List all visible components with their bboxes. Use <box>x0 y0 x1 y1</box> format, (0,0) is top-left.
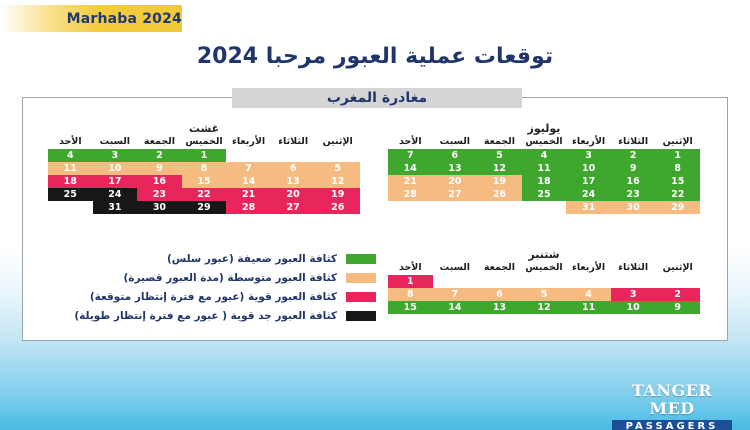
weekday-header: الأربعاء <box>226 136 271 149</box>
calendar-day-cell[interactable]: 6 <box>433 149 478 162</box>
calendar-day-cell[interactable]: 6 <box>271 162 316 175</box>
weekday-header: الثلاثاء <box>271 136 316 149</box>
calendar-month-name: شتنبر <box>388 248 700 261</box>
calendar-cell-empty <box>433 275 478 288</box>
calendar-day-cell[interactable]: 23 <box>137 188 182 201</box>
calendar-cell-empty <box>522 201 567 214</box>
calendar-cell-empty <box>477 201 522 214</box>
legend-swatch-green <box>346 254 376 264</box>
calendar-day-cell[interactable]: 18 <box>48 175 93 188</box>
calendar-day-cell[interactable]: 22 <box>655 188 700 201</box>
calendar-day-cell[interactable]: 27 <box>433 188 478 201</box>
calendar-day-cell[interactable]: 26 <box>315 201 360 214</box>
calendar-day-cell[interactable]: 28 <box>226 201 271 214</box>
weekday-header: الأحد <box>388 262 433 275</box>
calendar-يوليوز: يوليوزالإثنينالثلاثاءالأربعاءالخميسالجمع… <box>388 122 700 214</box>
calendar-day-cell[interactable]: 30 <box>611 201 656 214</box>
calendar-cell-empty <box>48 201 93 214</box>
calendar-day-cell[interactable]: 14 <box>226 175 271 188</box>
calendar-day-cell[interactable]: 12 <box>477 162 522 175</box>
logo-title: TANGER MED <box>612 382 732 418</box>
calendar-day-cell[interactable]: 2 <box>655 288 700 301</box>
calendar-cell-empty <box>226 149 271 162</box>
calendar-day-cell[interactable]: 31 <box>566 201 611 214</box>
calendar-day-cell[interactable]: 11 <box>566 301 611 314</box>
calendar-day-cell[interactable]: 14 <box>388 162 433 175</box>
calendar-day-cell[interactable]: 27 <box>271 201 316 214</box>
calendar-day-cell[interactable]: 7 <box>433 288 478 301</box>
calendar-day-cell[interactable]: 2 <box>611 149 656 162</box>
weekday-header: الخميس <box>182 136 227 149</box>
calendar-day-cell[interactable]: 12 <box>315 175 360 188</box>
legend-item: كثافة العبور جد قوية ( عبور مع فترة إنتظ… <box>108 308 376 324</box>
calendar-day-cell[interactable]: 5 <box>315 162 360 175</box>
calendar-day-cell[interactable]: 23 <box>611 188 656 201</box>
calendar-day-cell[interactable]: 16 <box>611 175 656 188</box>
weekday-header: الإثنين <box>655 136 700 149</box>
weekday-header: الجمعة <box>137 136 182 149</box>
calendar-day-cell[interactable]: 4 <box>48 149 93 162</box>
calendar-day-cell[interactable]: 17 <box>566 175 611 188</box>
legend: كثافة العبور ضعيفة (عبور سلس)كثافة العبو… <box>108 251 376 327</box>
calendar-cell-empty <box>611 275 656 288</box>
calendar-day-cell[interactable]: 13 <box>433 162 478 175</box>
calendar-cell-empty <box>655 275 700 288</box>
calendar-day-cell[interactable]: 11 <box>522 162 567 175</box>
calendar-day-cell[interactable]: 3 <box>93 149 138 162</box>
calendar-day-cell[interactable]: 25 <box>48 188 93 201</box>
marhaba-banner-text: Marhaba 2024 <box>67 11 182 27</box>
calendar-day-cell[interactable]: 7 <box>388 149 433 162</box>
calendar-day-cell[interactable]: 9 <box>137 162 182 175</box>
weekday-header: الإثنين <box>655 262 700 275</box>
calendar-day-cell[interactable]: 19 <box>477 175 522 188</box>
weekday-header: الثلاثاء <box>611 262 656 275</box>
calendar-cell-empty <box>388 201 433 214</box>
calendar-day-cell[interactable]: 18 <box>522 175 567 188</box>
calendar-cell-empty <box>271 149 316 162</box>
calendar-day-cell[interactable]: 24 <box>566 188 611 201</box>
calendar-day-cell[interactable]: 1 <box>655 149 700 162</box>
calendar-day-cell[interactable]: 4 <box>522 149 567 162</box>
calendar-day-cell[interactable]: 28 <box>388 188 433 201</box>
calendar-day-cell[interactable]: 1 <box>182 149 227 162</box>
calendar-cell-empty <box>566 275 611 288</box>
calendar-day-cell[interactable]: 5 <box>477 149 522 162</box>
calendar-day-cell[interactable]: 31 <box>93 201 138 214</box>
calendar-day-cell[interactable]: 7 <box>226 162 271 175</box>
weekday-header: الخميس <box>522 262 567 275</box>
calendar-day-cell[interactable]: 6 <box>477 288 522 301</box>
calendar-day-cell[interactable]: 8 <box>182 162 227 175</box>
calendar-cell-empty <box>433 201 478 214</box>
weekday-header: السبت <box>93 136 138 149</box>
calendar-day-cell[interactable]: 26 <box>477 188 522 201</box>
calendar-day-cell[interactable]: 10 <box>93 162 138 175</box>
calendar-day-cell[interactable]: 16 <box>137 175 182 188</box>
calendar-day-cell[interactable]: 9 <box>655 301 700 314</box>
calendar-day-cell[interactable]: 3 <box>566 149 611 162</box>
weekday-header: الإثنين <box>315 136 360 149</box>
legend-swatch-orange <box>346 273 376 283</box>
weekday-header: الأربعاء <box>566 262 611 275</box>
calendar-day-cell[interactable]: 10 <box>611 301 656 314</box>
calendar-day-cell[interactable]: 24 <box>93 188 138 201</box>
calendar-grid: الإثنينالثلاثاءالأربعاءالخميسالجمعةالسبت… <box>388 136 700 214</box>
calendar-day-cell[interactable]: 10 <box>566 162 611 175</box>
weekday-header: السبت <box>433 262 478 275</box>
weekday-header: الجمعة <box>477 262 522 275</box>
weekday-header: الأحد <box>48 136 93 149</box>
calendar-cell-empty <box>315 149 360 162</box>
weekday-header: الأحد <box>388 136 433 149</box>
calendar-day-cell[interactable]: 29 <box>655 201 700 214</box>
section-subtitle: مغادرة المغرب <box>232 88 522 108</box>
calendar-day-cell[interactable]: 22 <box>182 188 227 201</box>
calendar-day-cell[interactable]: 19 <box>315 188 360 201</box>
calendar-day-cell[interactable]: 9 <box>611 162 656 175</box>
calendar-day-cell[interactable]: 17 <box>93 175 138 188</box>
calendar-day-cell[interactable]: 11 <box>48 162 93 175</box>
calendar-cell-empty <box>522 275 567 288</box>
calendar-grid: الإثنينالثلاثاءالأربعاءالخميسالجمعةالسبت… <box>388 262 700 314</box>
calendar-day-cell[interactable]: 13 <box>271 175 316 188</box>
calendar-day-cell[interactable]: 1 <box>388 275 433 288</box>
legend-label: كثافة العبور متوسطة (مدة العبور قصيرة) <box>123 272 337 284</box>
calendar-month-name: يوليوز <box>388 122 700 135</box>
calendar-day-cell[interactable]: 13 <box>477 301 522 314</box>
calendar-cell-empty <box>477 275 522 288</box>
calendar-day-cell[interactable]: 21 <box>226 188 271 201</box>
tanger-med-logo: TANGER MED PASSAGERS <box>612 382 732 430</box>
weekday-header: الأربعاء <box>566 136 611 149</box>
calendar-day-cell[interactable]: 15 <box>655 175 700 188</box>
legend-label: كثافة العبور قوية (عبور مع فترة إنتظار م… <box>90 291 337 303</box>
legend-item: كثافة العبور قوية (عبور مع فترة إنتظار م… <box>108 289 376 305</box>
calendar-day-cell[interactable]: 3 <box>611 288 656 301</box>
calendar-day-cell[interactable]: 12 <box>522 301 567 314</box>
weekday-header: الثلاثاء <box>611 136 656 149</box>
legend-label: كثافة العبور جد قوية ( عبور مع فترة إنتظ… <box>74 310 337 322</box>
calendar-day-cell[interactable]: 15 <box>388 301 433 314</box>
calendar-month-name: غشت <box>48 122 360 135</box>
calendar-day-cell[interactable]: 21 <box>388 175 433 188</box>
calendar-day-cell[interactable]: 30 <box>137 201 182 214</box>
calendar-day-cell[interactable]: 29 <box>182 201 227 214</box>
calendar-day-cell[interactable]: 20 <box>433 175 478 188</box>
calendar-day-cell[interactable]: 8 <box>655 162 700 175</box>
calendar-day-cell[interactable]: 2 <box>137 149 182 162</box>
calendar-grid: الإثنينالثلاثاءالأربعاءالخميسالجمعةالسبت… <box>48 136 360 214</box>
calendar-day-cell[interactable]: 8 <box>388 288 433 301</box>
calendar-شتنبر: شتنبرالإثنينالثلاثاءالأربعاءالخميسالجمعة… <box>388 248 700 314</box>
logo-subtitle: PASSAGERS <box>612 420 732 430</box>
weekday-header: الجمعة <box>477 136 522 149</box>
calendar-day-cell[interactable]: 4 <box>566 288 611 301</box>
calendar-day-cell[interactable]: 20 <box>271 188 316 201</box>
calendar-day-cell[interactable]: 25 <box>522 188 567 201</box>
page-title: توقعات عملية العبور مرحبا 2024 <box>0 44 750 69</box>
legend-item: كثافة العبور متوسطة (مدة العبور قصيرة) <box>108 270 376 286</box>
calendar-غشت: غشتالإثنينالثلاثاءالأربعاءالخميسالجمعةال… <box>48 122 360 214</box>
weekday-header: الخميس <box>522 136 567 149</box>
calendar-day-cell[interactable]: 14 <box>433 301 478 314</box>
legend-item: كثافة العبور ضعيفة (عبور سلس) <box>108 251 376 267</box>
legend-swatch-pink <box>346 292 376 302</box>
marhaba-banner: Marhaba 2024 <box>0 5 182 32</box>
legend-label: كثافة العبور ضعيفة (عبور سلس) <box>167 253 337 265</box>
calendar-day-cell[interactable]: 5 <box>522 288 567 301</box>
weekday-header: السبت <box>433 136 478 149</box>
legend-swatch-black <box>346 311 376 321</box>
calendar-day-cell[interactable]: 15 <box>182 175 227 188</box>
